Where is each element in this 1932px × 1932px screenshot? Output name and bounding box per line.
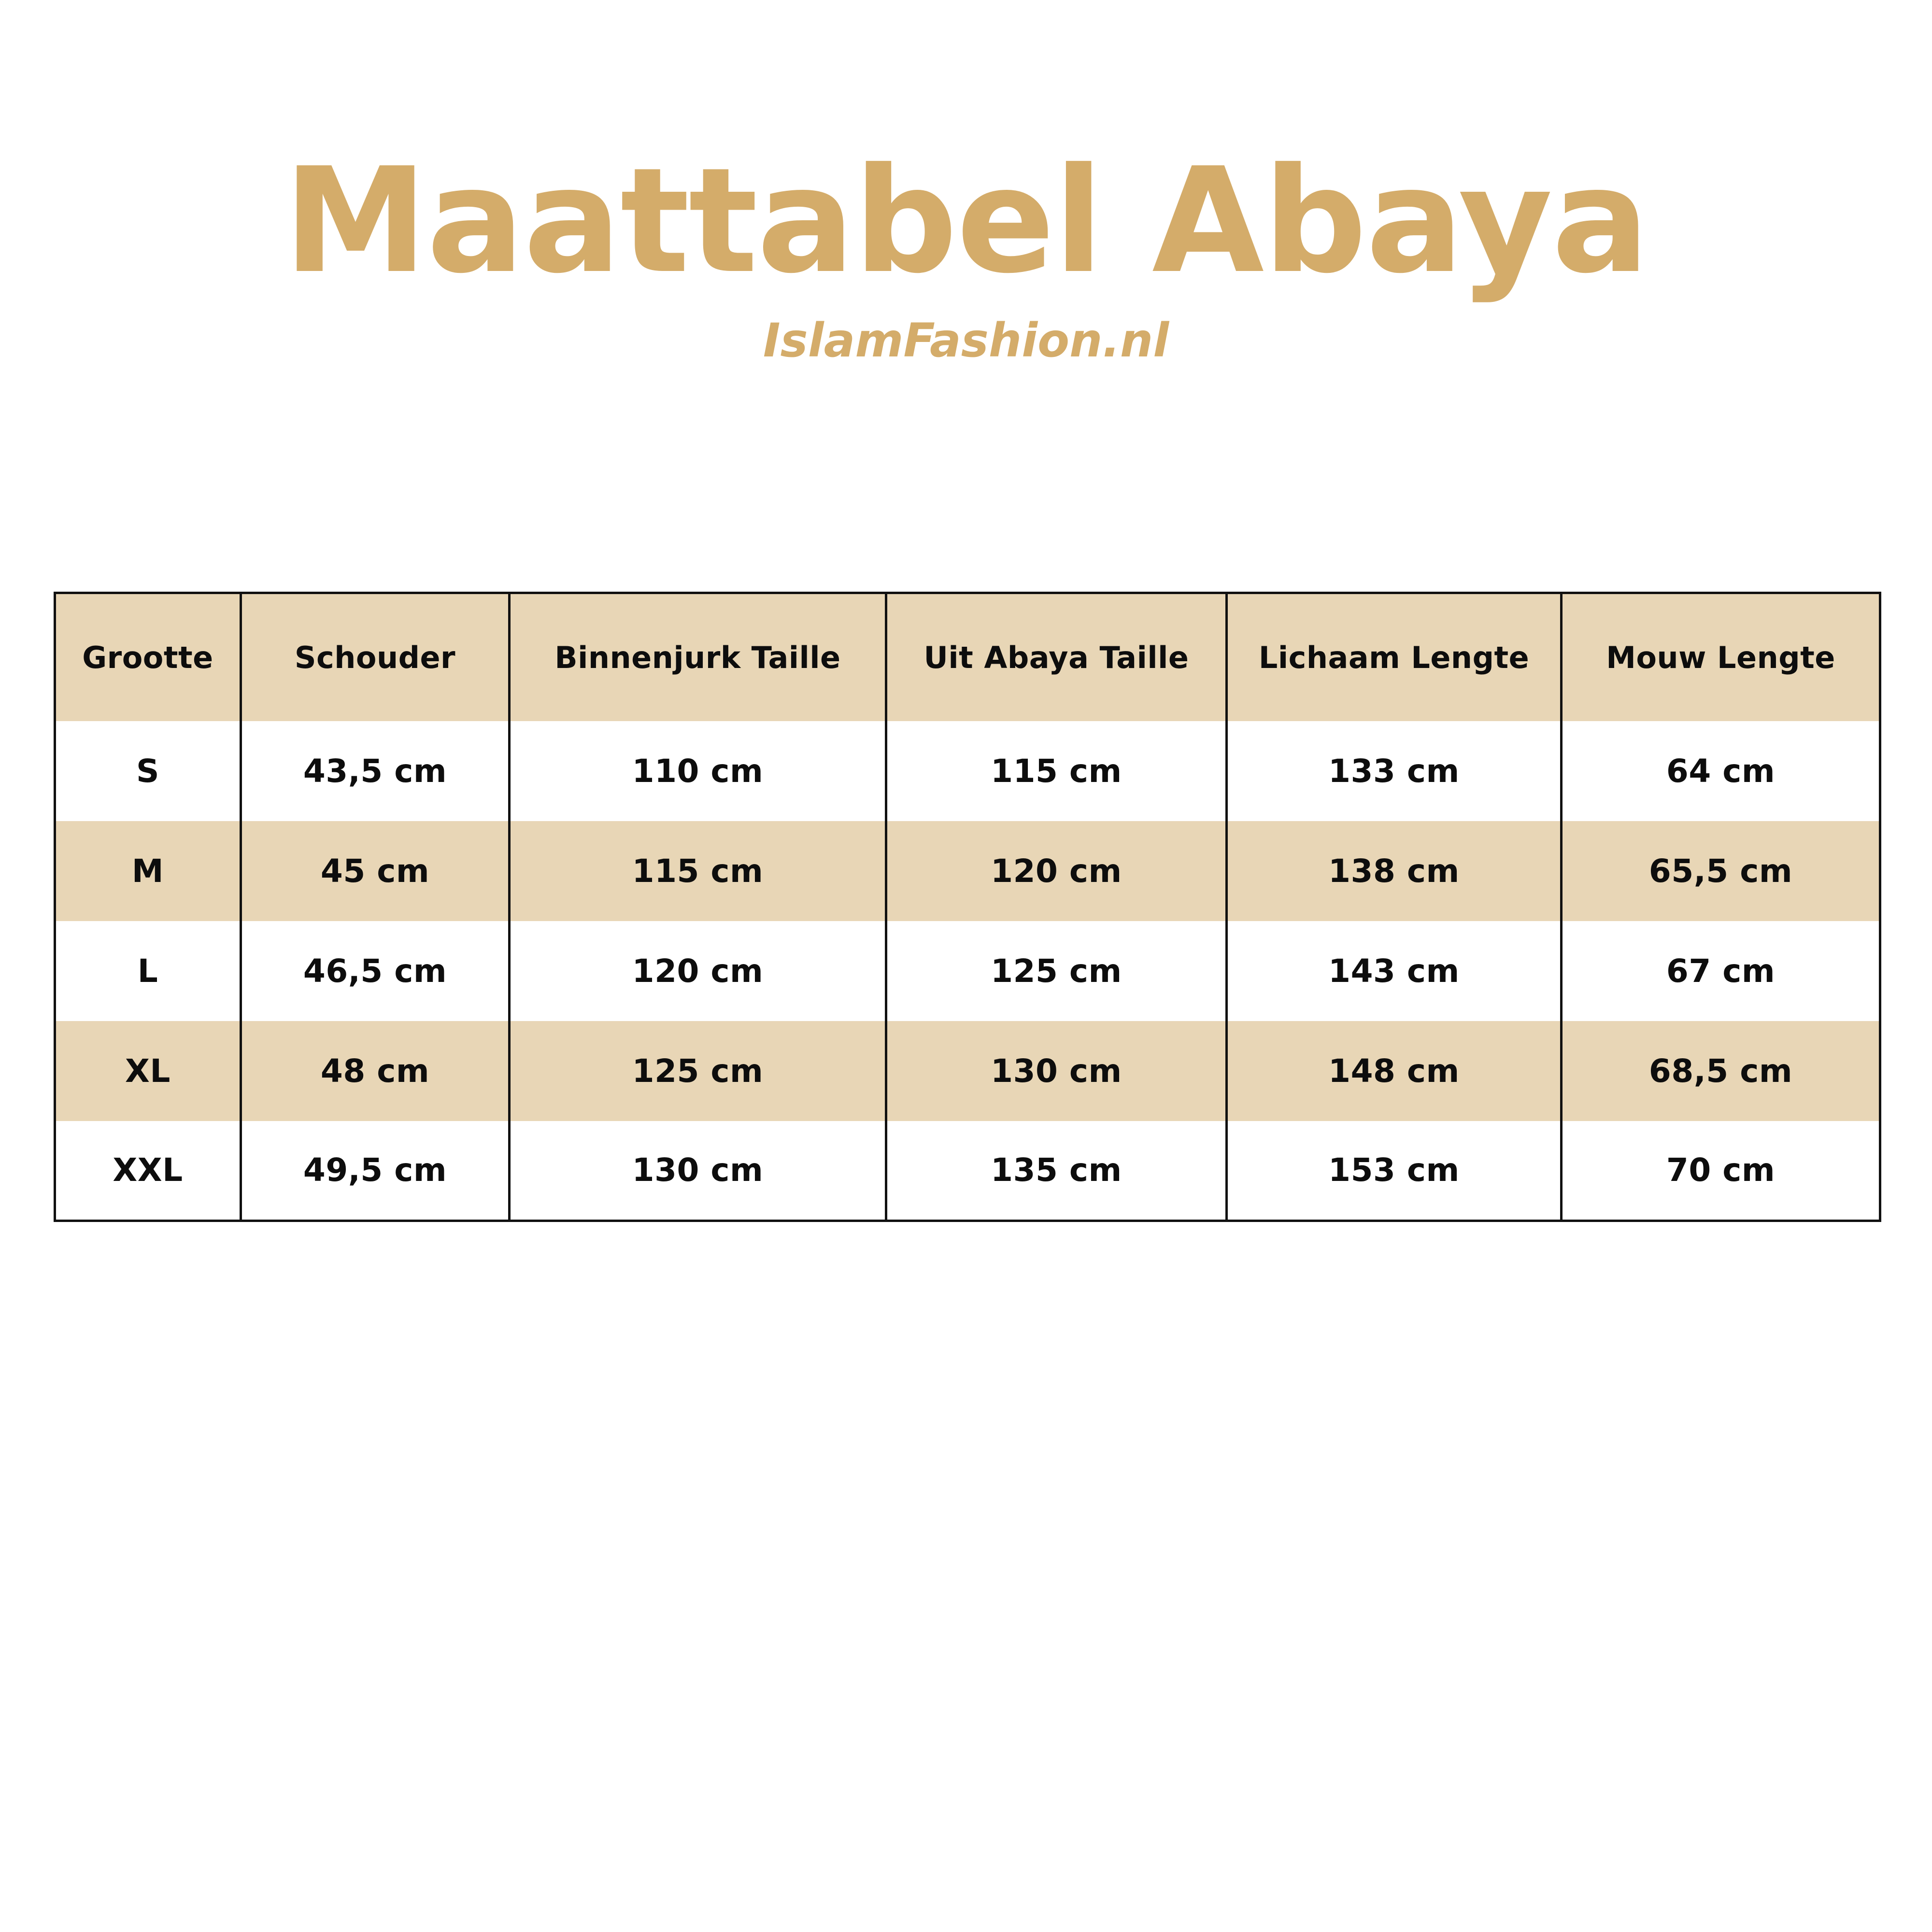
column-header-grootte: Grootte [55,593,241,721]
column-header-schouder: Schouder [241,593,510,721]
column-header-lichaam-lengte: Lichaam Lengte [1227,593,1562,721]
header-block: Maattabel Abaya IslamFashion.nl [0,145,1932,367]
size-table-container: Grootte Schouder Binnenjurk Taille Uit A… [54,592,1879,1222]
cell-lichaam-lengte: 148 cm [1227,1021,1562,1121]
cell-lichaam-lengte: 133 cm [1227,721,1562,821]
cell-binnenjurk-taille: 110 cm [510,721,886,821]
cell-uit-abaya-taille: 120 cm [886,821,1227,921]
column-header-binnenjurk-taille: Binnenjurk Taille [510,593,886,721]
table-row: M 45 cm 115 cm 120 cm 138 cm 65,5 cm [55,821,1880,921]
table-row: S 43,5 cm 110 cm 115 cm 133 cm 64 cm [55,721,1880,821]
cell-binnenjurk-taille: 130 cm [510,1121,886,1221]
cell-mouw-lengte: 65,5 cm [1562,821,1880,921]
table-header-row: Grootte Schouder Binnenjurk Taille Uit A… [55,593,1880,721]
table-body: S 43,5 cm 110 cm 115 cm 133 cm 64 cm M 4… [55,721,1880,1221]
brand-subtitle: IslamFashion.nl [0,315,1932,367]
cell-schouder: 43,5 cm [241,721,510,821]
cell-grootte: M [55,821,241,921]
cell-lichaam-lengte: 143 cm [1227,921,1562,1021]
cell-grootte: L [55,921,241,1021]
column-header-mouw-lengte: Mouw Lengte [1562,593,1880,721]
cell-lichaam-lengte: 138 cm [1227,821,1562,921]
cell-schouder: 49,5 cm [241,1121,510,1221]
size-table: Grootte Schouder Binnenjurk Taille Uit A… [54,592,1881,1222]
table-row: XL 48 cm 125 cm 130 cm 148 cm 68,5 cm [55,1021,1880,1121]
cell-grootte: S [55,721,241,821]
cell-mouw-lengte: 67 cm [1562,921,1880,1021]
cell-binnenjurk-taille: 125 cm [510,1021,886,1121]
cell-mouw-lengte: 70 cm [1562,1121,1880,1221]
column-header-uit-abaya-taille: Uit Abaya Taille [886,593,1227,721]
table-row: L 46,5 cm 120 cm 125 cm 143 cm 67 cm [55,921,1880,1021]
cell-uit-abaya-taille: 135 cm [886,1121,1227,1221]
cell-mouw-lengte: 68,5 cm [1562,1021,1880,1121]
table-head: Grootte Schouder Binnenjurk Taille Uit A… [55,593,1880,721]
cell-schouder: 48 cm [241,1021,510,1121]
size-chart-page: Maattabel Abaya IslamFashion.nl Grootte … [0,0,1932,1932]
cell-binnenjurk-taille: 115 cm [510,821,886,921]
table-row: XXL 49,5 cm 130 cm 135 cm 153 cm 70 cm [55,1121,1880,1221]
cell-schouder: 46,5 cm [241,921,510,1021]
cell-lichaam-lengte: 153 cm [1227,1121,1562,1221]
cell-grootte: XL [55,1021,241,1121]
cell-schouder: 45 cm [241,821,510,921]
cell-uit-abaya-taille: 125 cm [886,921,1227,1021]
page-title: Maattabel Abaya [0,145,1932,297]
cell-uit-abaya-taille: 115 cm [886,721,1227,821]
cell-uit-abaya-taille: 130 cm [886,1021,1227,1121]
cell-mouw-lengte: 64 cm [1562,721,1880,821]
cell-binnenjurk-taille: 120 cm [510,921,886,1021]
cell-grootte: XXL [55,1121,241,1221]
